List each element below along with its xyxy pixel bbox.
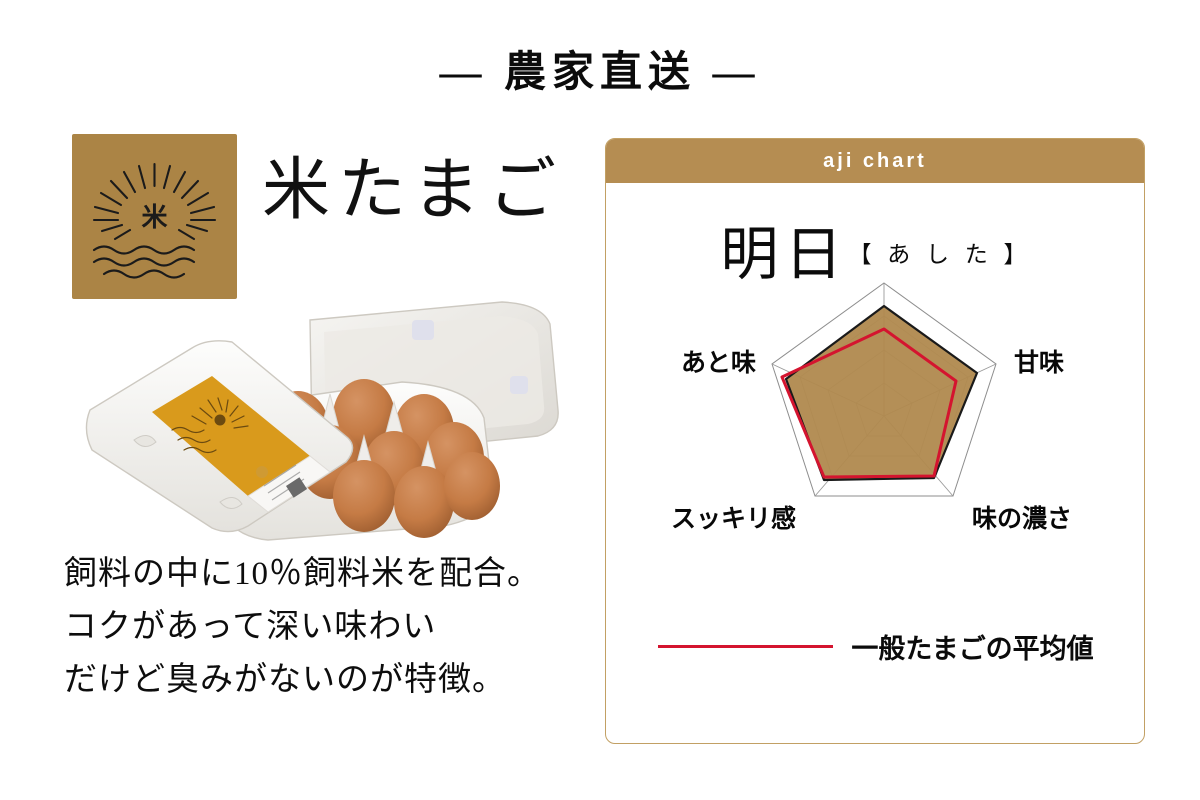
description-line-2: コクがあって深い味わい [64,601,604,654]
product-page: — 農家直送 — [0,0,1200,800]
brand-logo-badge: 米 [72,134,237,299]
logo-kanji-mai: 米 [141,203,167,233]
legend-label: 一般たまごの平均値 [851,627,1093,666]
product-name-furigana: 【 あ し た 】 [849,242,1032,267]
aji-chart-card: aji chart 明日【 あ し た 】 [605,138,1145,744]
brand-title: 米たまご [262,156,564,224]
card-header: aji chart [606,139,1144,183]
legend-line-swatch [658,645,833,648]
product-photo [72,290,572,560]
radar-axis-label-sukkirikan: スッキリ感 [671,504,796,533]
product-description: 飼料の中に10％飼料米を配合。 コクがあって深い味わい だけど臭みがないのが特徴… [64,548,604,706]
radar-axis-label-ajinokosa: 味の濃さ [972,504,1072,533]
page-header: — 農家直送 — [0,38,1200,99]
left-column: 米 米たまご [0,118,600,800]
rising-sun-rice-logo-icon: 米 [72,134,237,299]
description-line-3: だけど臭みがないのが特徴。 [64,654,604,707]
radar-chart: コク 甘味 味の濃さ スッキリ感 あと味 [606,271,1145,601]
radar-axis-label-atoaji: あと味 [681,348,756,377]
description-line-1: 飼料の中に10％飼料米を配合。 [64,548,604,601]
page-title: — 農家直送 — [0,38,1200,99]
radar-axis-label-amami: 甘味 [1014,348,1064,377]
card-header-label: aji chart [823,150,927,173]
chart-legend: 一般たまごの平均値 [606,621,1145,671]
card-body: 明日【 あ し た 】 [606,183,1144,743]
brand-row: 米 米たまご [72,134,592,302]
radar-chart-svg: コク 甘味 味の濃さ スッキリ感 あと味 [606,271,1145,601]
radar-axis-label-koku: コク [859,271,909,275]
egg-carton-illustration [72,290,572,560]
